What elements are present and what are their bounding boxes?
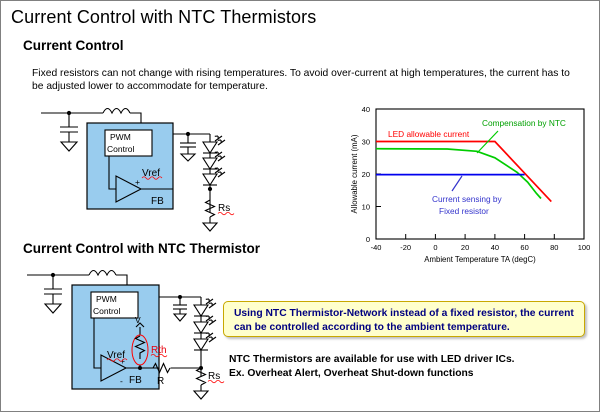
slide-page: Current Control with NTC Thermistors Cur…	[0, 0, 600, 412]
fb-label: FB	[151, 196, 164, 207]
intro-paragraph: Fixed resistors can not change with risi…	[32, 67, 572, 93]
bottom-note-line2: Ex. Overheat Alert, Overheat Shut-down f…	[229, 367, 589, 381]
capacitor-icon	[60, 113, 78, 142]
ground-icon	[181, 154, 195, 161]
circuit-diagram-fixed-resistor: PWM Control + Vref FB	[31, 101, 331, 236]
x-tick-100: 100	[578, 243, 591, 252]
capacitor-icon	[44, 275, 62, 304]
callout-text: Using NTC Thermistor-Network instead of …	[234, 307, 578, 334]
control-label: Control	[93, 306, 121, 316]
fb-label: FB	[129, 375, 142, 386]
led-icon	[194, 316, 216, 333]
capacitor-icon	[173, 297, 187, 314]
led-icon	[203, 168, 225, 185]
control-label: Control	[107, 144, 135, 154]
y-tick-40: 40	[362, 105, 370, 114]
callout-box: Using NTC Thermistor-Network instead of …	[223, 301, 585, 337]
x-tick--20: -20	[400, 243, 411, 252]
x-tick-20: 20	[461, 243, 469, 252]
annotation-current-sensing-line1: Current sensing by	[432, 194, 502, 204]
inductor-icon	[89, 271, 127, 286]
ground-icon	[45, 304, 61, 313]
opamp-minus-label: -	[120, 376, 123, 386]
y-tick-10: 10	[362, 203, 370, 212]
y-tick-20: 20	[362, 170, 370, 179]
chart-x-axis-label: Ambient Temperature TA (degC)	[424, 255, 536, 264]
r-label: R	[157, 376, 164, 387]
annotation-led-allowable-current: LED allowable current	[388, 129, 470, 139]
page-title: Current Control with NTC Thermistors	[11, 7, 316, 28]
circuit-diagram-ntc-thermistor: PWM Control + - Vref FB	[19, 265, 259, 410]
ground-icon	[203, 223, 217, 231]
v-node-label: V	[135, 315, 141, 325]
led-icon	[203, 152, 225, 169]
bottom-note-line1: NTC Thermistors are available for use wi…	[229, 353, 589, 367]
led-icon	[194, 299, 216, 316]
section-heading-ntc-thermistor: Current Control with NTC Thermistor	[23, 241, 260, 256]
chart-y-axis-label: Allowable current (mA)	[350, 134, 359, 213]
annotation-compensation-by-ntc: Compensation by NTC	[482, 118, 566, 128]
x-tick-60: 60	[520, 243, 528, 252]
bottom-note: NTC Thermistors are available for use wi…	[229, 353, 589, 381]
pwm-label: PWM	[110, 132, 131, 142]
y-tick-30: 30	[362, 138, 370, 147]
led-icon	[203, 136, 225, 153]
capacitor-icon	[180, 134, 196, 154]
x-tick-40: 40	[491, 243, 499, 252]
allowable-current-chart: 0 10 20 30 40 -40 -20 0 20 40	[346, 101, 596, 273]
x-tick-0: 0	[433, 243, 437, 252]
ground-icon	[174, 314, 186, 321]
led-icon	[194, 333, 216, 350]
opamp-plus-label: +	[135, 177, 140, 187]
section-heading-current-control: Current Control	[23, 38, 124, 53]
pwm-label: PWM	[96, 294, 117, 304]
annotation-current-sensing-line2: Fixed resistor	[439, 206, 489, 216]
y-tick-0: 0	[366, 235, 370, 244]
ground-icon	[194, 391, 208, 399]
x-tick--40: -40	[371, 243, 382, 252]
x-tick-80: 80	[550, 243, 558, 252]
ground-icon	[61, 142, 77, 151]
inductor-icon	[103, 109, 141, 124]
